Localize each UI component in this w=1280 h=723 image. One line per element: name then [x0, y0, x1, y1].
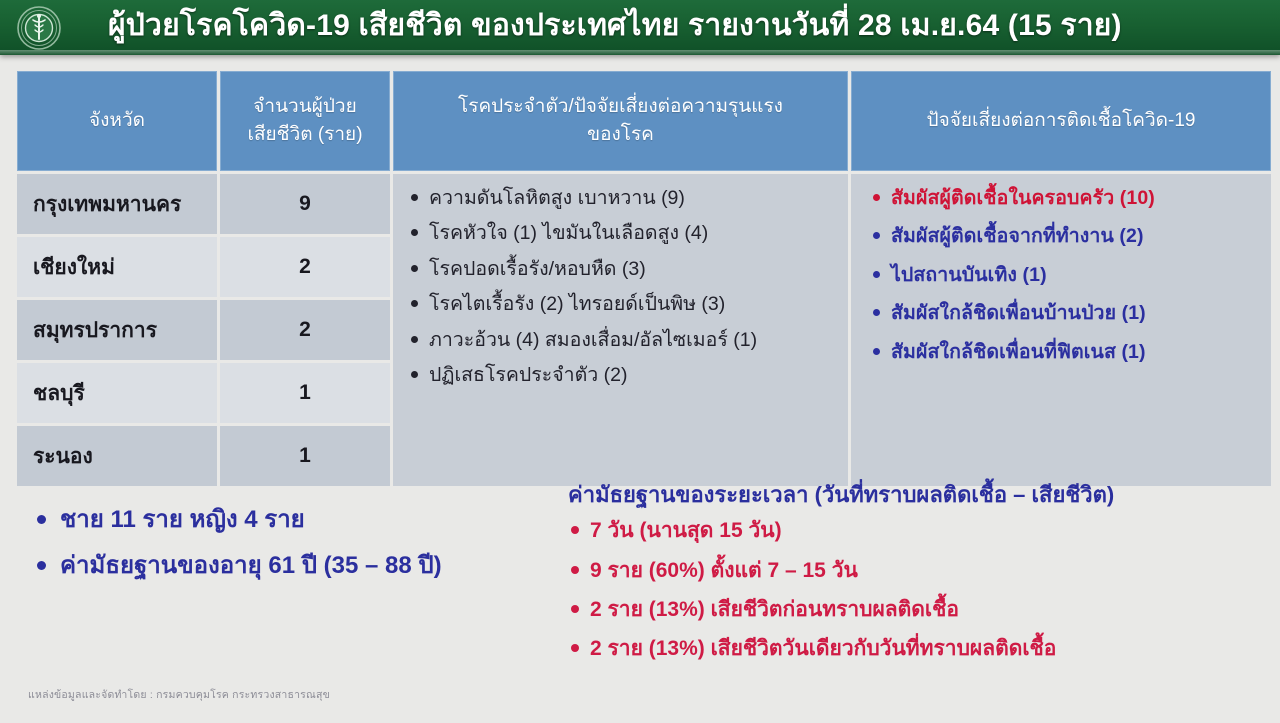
cell-death-count: 9 [220, 174, 390, 234]
demographics-item: ชาย 11 ราย หญิง 4 ราย [34, 505, 574, 535]
column-header-comorbidity-line1: โรคประจำตัว/ปัจจัยเสี่ยงต่อความรุนแรง [403, 93, 838, 122]
cell-province: สมุทรปราการ [17, 300, 217, 360]
infection-risk-item: สัมผัสผู้ติดเชื้อจากที่ทำงาน (2) [869, 224, 1261, 248]
demographics-section: ชาย 11 ราย หญิง 4 ราย ค่ามัธยฐานของอายุ … [34, 505, 574, 597]
comorbidity-item: โรคปอดเรื้อรัง/หอบหืด (3) [407, 257, 838, 281]
demographics-list: ชาย 11 ราย หญิง 4 ราย ค่ามัธยฐานของอายุ … [34, 505, 574, 581]
comorbidity-item: โรคหัวใจ (1) ไขมันในเลือดสูง (4) [407, 221, 838, 245]
cell-death-count: 1 [220, 363, 390, 423]
comorbidity-list: ความดันโลหิตสูง เบาหวาน (9) โรคหัวใจ (1)… [407, 186, 838, 387]
cell-province: ชลบุรี [17, 363, 217, 423]
infection-risk-item: สัมผัสใกล้ชิดเพื่อนบ้านป่วย (1) [869, 301, 1261, 325]
source-note: แหล่งข้อมูลและจัดทำโดย : กรมควบคุมโรค กร… [28, 686, 330, 703]
duration-item: 9 ราย (60%) ตั้งแต่ 7 – 15 วัน [568, 558, 1268, 584]
column-header-death-count-line2: เสียชีวิต (ราย) [230, 121, 380, 150]
column-header-infection-risk: ปัจจัยเสี่ยงต่อการติดเชื้อโควิด-19 [851, 71, 1271, 171]
page-title: ผู้ป่วยโรคโควิด-19 เสียชีวิต ของประเทศไท… [108, 2, 1268, 50]
comorbidity-item: โรคไตเรื้อรัง (2) ไทรอยด์เป็นพิษ (3) [407, 292, 838, 316]
comorbidity-item: ปฏิเสธโรคประจำตัว (2) [407, 363, 838, 387]
ministry-of-public-health-emblem-icon [12, 4, 66, 52]
table-row: กรุงเทพมหานคร 9 ความดันโลหิตสูง เบาหวาน … [17, 174, 1271, 234]
infection-risk-item: สัมผัสผู้ติดเชื้อในครอบครัว (10) [869, 186, 1261, 210]
header-bar: ผู้ป่วยโรคโควิด-19 เสียชีวิต ของประเทศไท… [0, 0, 1280, 55]
duration-section: ค่ามัธยฐานของระยะเวลา (วันที่ทราบผลติดเช… [568, 482, 1268, 675]
comorbidity-item: ความดันโลหิตสูง เบาหวาน (9) [407, 186, 838, 210]
cell-infection-risk-list: สัมผัสผู้ติดเชื้อในครอบครัว (10) สัมผัสผ… [851, 174, 1271, 486]
column-header-province: จังหวัด [17, 71, 217, 171]
comorbidity-item: ภาวะอ้วน (4) สมองเสื่อม/อัลไซเมอร์ (1) [407, 328, 838, 352]
column-header-death-count: จำนวนผู้ป่วย เสียชีวิต (ราย) [220, 71, 390, 171]
column-header-death-count-line1: จำนวนผู้ป่วย [230, 93, 380, 122]
infection-risk-item: ไปสถานบันเทิง (1) [869, 263, 1261, 287]
cell-province: กรุงเทพมหานคร [17, 174, 217, 234]
column-header-comorbidity-line2: ของโรค [403, 121, 838, 150]
demographics-item: ค่ามัธยฐานของอายุ 61 ปี (35 – 88 ปี) [34, 551, 574, 581]
infection-risk-item: สัมผัสใกล้ชิดเพื่อนที่ฟิตเนส (1) [869, 340, 1261, 364]
duration-heading: ค่ามัธยฐานของระยะเวลา (วันที่ทราบผลติดเช… [568, 482, 1268, 508]
column-header-comorbidity: โรคประจำตัว/ปัจจัยเสี่ยงต่อความรุนแรง ขอ… [393, 71, 848, 171]
cell-death-count: 2 [220, 300, 390, 360]
duration-list: 7 วัน (นานสุด 15 วัน) 9 ราย (60%) ตั้งแต… [568, 518, 1268, 662]
cell-death-count: 1 [220, 426, 390, 486]
deaths-summary-table-container: จังหวัด จำนวนผู้ป่วย เสียชีวิต (ราย) โรค… [14, 68, 1268, 489]
cell-death-count: 2 [220, 237, 390, 297]
cell-province: เชียงใหม่ [17, 237, 217, 297]
duration-item: 2 ราย (13%) เสียชีวิตก่อนทราบผลติดเชื้อ [568, 597, 1268, 623]
deaths-summary-table: จังหวัด จำนวนผู้ป่วย เสียชีวิต (ราย) โรค… [14, 68, 1274, 489]
table-header-row: จังหวัด จำนวนผู้ป่วย เสียชีวิต (ราย) โรค… [17, 71, 1271, 171]
infection-risk-list: สัมผัสผู้ติดเชื้อในครอบครัว (10) สัมผัสผ… [869, 186, 1261, 364]
duration-item: 7 วัน (นานสุด 15 วัน) [568, 518, 1268, 544]
cell-province: ระนอง [17, 426, 217, 486]
duration-item: 2 ราย (13%) เสียชีวิตวันเดียวกับวันที่ทร… [568, 636, 1268, 662]
cell-comorbidity-list: ความดันโลหิตสูง เบาหวาน (9) โรคหัวใจ (1)… [393, 174, 848, 486]
